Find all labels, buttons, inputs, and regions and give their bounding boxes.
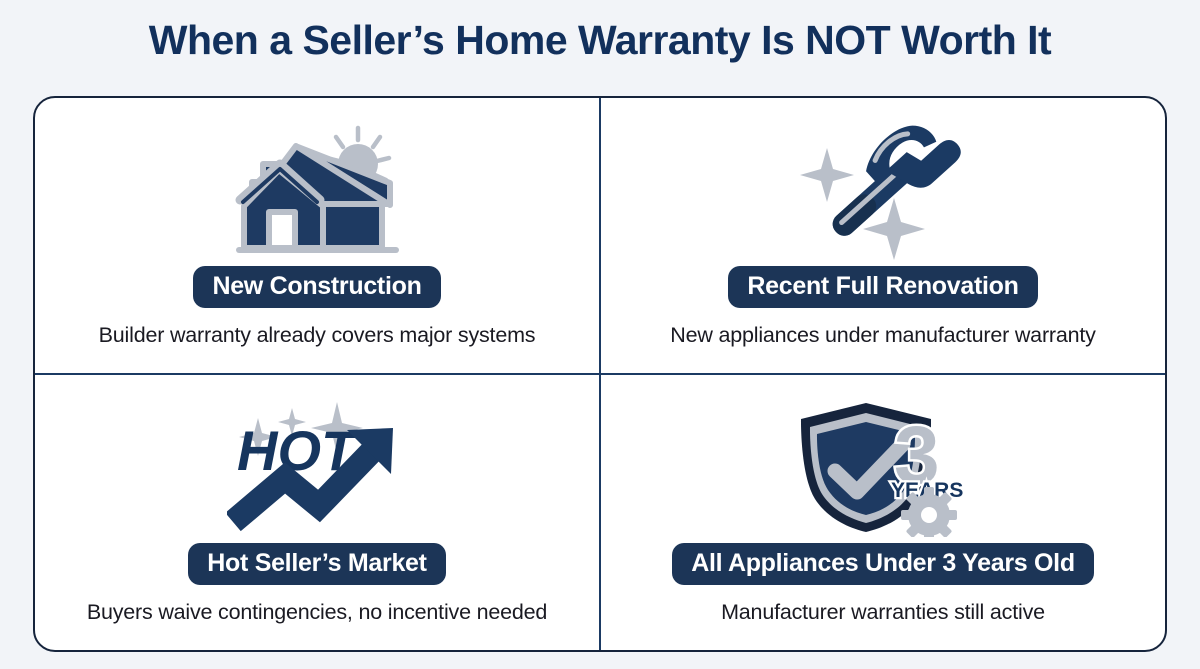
house-with-sun-icon [35, 114, 599, 266]
infographic-page: When a Seller’s Home Warranty Is NOT Wor… [0, 0, 1200, 669]
hammer-with-sparkles-icon [601, 114, 1165, 266]
caption-all-appliances-under-3-years-old: Manufacturer warranties still active [721, 600, 1045, 625]
quadrant-all-appliances-under-3-years-old: 3 YEARS [600, 374, 1165, 650]
quadrant-recent-full-renovation: Recent Full Renovation New appliances un… [600, 98, 1165, 374]
quadrant-grid: New Construction Builder warranty alread… [33, 96, 1167, 652]
badge-recent-full-renovation[interactable]: Recent Full Renovation [728, 266, 1037, 308]
quadrant-hot-sellers-market: HOT Hot Seller’s Market Buyers waive con… [35, 374, 600, 650]
caption-new-construction: Builder warranty already covers major sy… [99, 323, 536, 348]
quadrant-new-construction: New Construction Builder warranty alread… [35, 98, 600, 374]
badge-all-appliances-under-3-years-old[interactable]: All Appliances Under 3 Years Old [672, 543, 1094, 585]
badge-hot-sellers-market[interactable]: Hot Seller’s Market [188, 543, 445, 585]
hot-rising-arrow-icon: HOT [35, 391, 599, 543]
shield-check-3-years-gear-icon: 3 YEARS [601, 391, 1165, 543]
page-title: When a Seller’s Home Warranty Is NOT Wor… [0, 17, 1200, 64]
caption-recent-full-renovation: New appliances under manufacturer warran… [670, 323, 1095, 348]
badge-new-construction[interactable]: New Construction [193, 266, 440, 308]
caption-hot-sellers-market: Buyers waive contingencies, no incentive… [87, 600, 547, 625]
